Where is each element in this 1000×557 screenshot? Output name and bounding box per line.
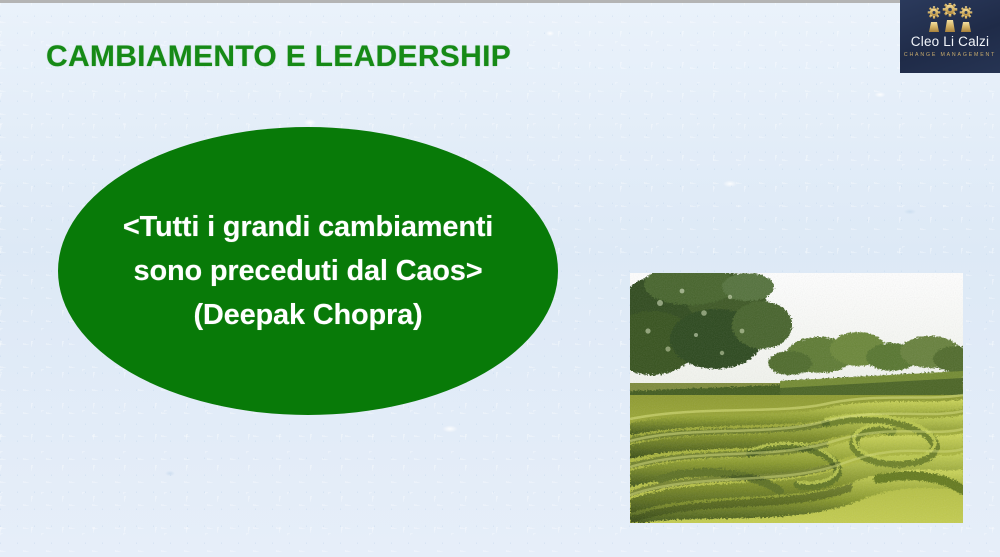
page-title: CAMBIAMENTO E LEADERSHIP [46, 40, 511, 74]
quote-ellipse: <Tutti i grandi cambiamenti sono precedu… [58, 127, 558, 415]
quote-attribution: (Deepak Chopra) [83, 293, 533, 337]
three-gears-over-three-people-icon [923, 3, 977, 33]
quote-line-1: <Tutti i grandi cambiamenti [83, 205, 533, 249]
hedge-maze-illustration [630, 273, 963, 523]
quote-line-2: sono preceduti dal Caos> [83, 249, 533, 293]
hedge-maze-photo [630, 273, 963, 523]
presentation-slide: CAMBIAMENTO E LEADERSHIP [0, 0, 1000, 557]
company-logo: Cleo Li Calzi CHANGE MANAGEMENT [900, 0, 1000, 73]
logo-tagline: CHANGE MANAGEMENT [904, 52, 996, 58]
logo-company-name: Cleo Li Calzi [911, 34, 989, 49]
quote-text: <Tutti i grandi cambiamenti sono precedu… [83, 205, 533, 337]
